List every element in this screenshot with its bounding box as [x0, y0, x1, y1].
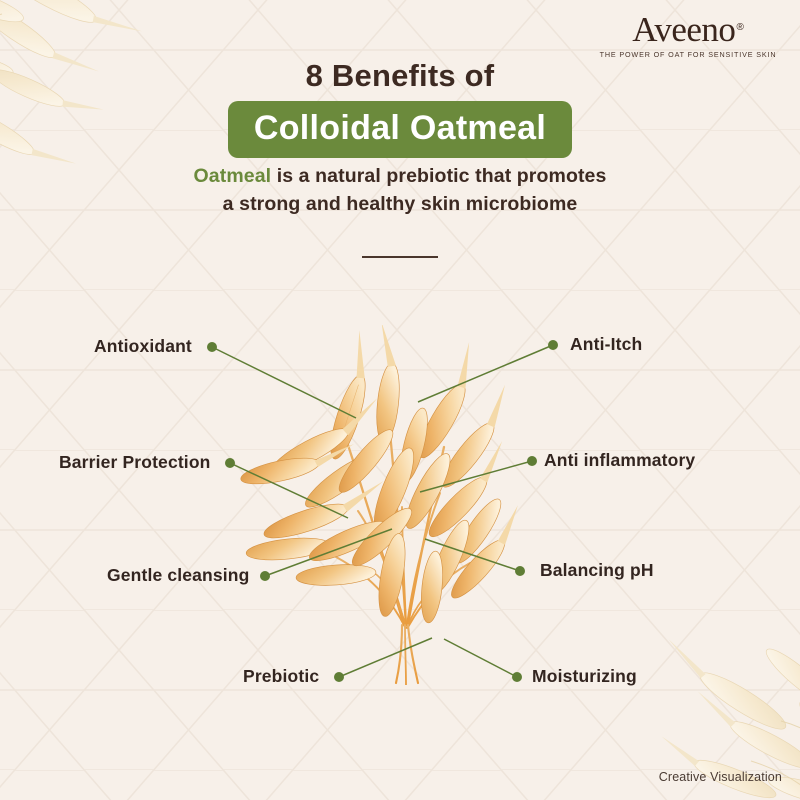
connector-line	[444, 639, 517, 677]
oat-spikelet	[432, 385, 524, 493]
oat-spikelet	[367, 444, 421, 534]
title-divider	[362, 256, 438, 258]
registered-trademark-icon: ®	[736, 22, 743, 33]
oat-spikelet	[420, 441, 520, 543]
connector-dot	[225, 458, 235, 468]
oat-spikelet	[369, 325, 407, 444]
subtitle-highlight: Oatmeal	[194, 165, 272, 187]
oat-spikelet	[295, 562, 376, 588]
benefit-label: Balancing pH	[540, 560, 654, 581]
oat-spikelet	[300, 448, 380, 514]
oat-spikelet	[333, 424, 400, 498]
brand-logo: Aveeno® THE POWER OF OAT FOR SENSITIVE S…	[598, 12, 778, 59]
benefit-label: Prebiotic	[243, 666, 319, 687]
oat-spikelet	[260, 481, 391, 544]
connector-line	[418, 345, 553, 402]
oat-spikelet	[265, 398, 389, 480]
benefit-label: Moisturizing	[532, 666, 637, 687]
benefit-label: Anti inflammatory	[544, 450, 695, 471]
connector-line	[265, 529, 392, 576]
connector-line	[420, 461, 532, 492]
oat-spikelet	[443, 505, 535, 604]
connector-dot	[548, 340, 558, 350]
oat-spikelet	[407, 342, 492, 463]
subtitle-line-two: a strong and healthy skin microbiome	[223, 193, 578, 215]
brand-wordmark: Aveeno®	[598, 12, 778, 47]
oat-spikelet	[239, 444, 359, 489]
oat-spikelet	[319, 330, 385, 462]
brand-name: Aveeno	[632, 12, 735, 47]
connector-dot	[515, 566, 525, 576]
connector-line	[230, 463, 348, 518]
oat-bundle-illustration	[236, 325, 556, 685]
connector-dot	[334, 672, 344, 682]
connector-dot	[207, 342, 217, 352]
oat-spikelet	[305, 514, 390, 567]
oat-spikelet	[424, 516, 476, 598]
infographic-poster: Aveeno® THE POWER OF OAT FOR SENSITIVE S…	[0, 0, 800, 800]
oat-spikelet	[448, 494, 507, 568]
footer-disclaimer: Creative Visualization	[659, 770, 782, 784]
page-title: Colloidal Oatmeal	[228, 101, 572, 158]
benefit-label: Anti-Itch	[570, 334, 642, 355]
connector-dot	[512, 672, 522, 682]
benefit-label: Antioxidant	[94, 336, 192, 357]
page-eyebrow-title: 8 Benefits of	[0, 58, 800, 94]
connector-line	[339, 638, 432, 677]
page-title-wrapper: Colloidal Oatmeal	[0, 101, 800, 158]
benefit-label: Barrier Protection	[59, 452, 211, 473]
connector-line	[212, 347, 356, 418]
oat-spikelet	[245, 530, 370, 563]
subtitle-rest: is a natural prebiotic that promotes	[271, 165, 606, 187]
connector-line	[425, 539, 520, 571]
oat-spikelet	[395, 406, 433, 485]
oat-spikelet	[399, 449, 458, 533]
connector-dot	[527, 456, 537, 466]
connector-dot	[260, 571, 270, 581]
oat-spikelet	[346, 502, 418, 573]
oat-spikelet	[374, 532, 410, 619]
page-subtitle: Oatmeal is a natural prebiotic that prom…	[0, 163, 800, 218]
benefit-label: Gentle cleansing	[107, 565, 249, 586]
oat-spikelet	[418, 550, 445, 624]
